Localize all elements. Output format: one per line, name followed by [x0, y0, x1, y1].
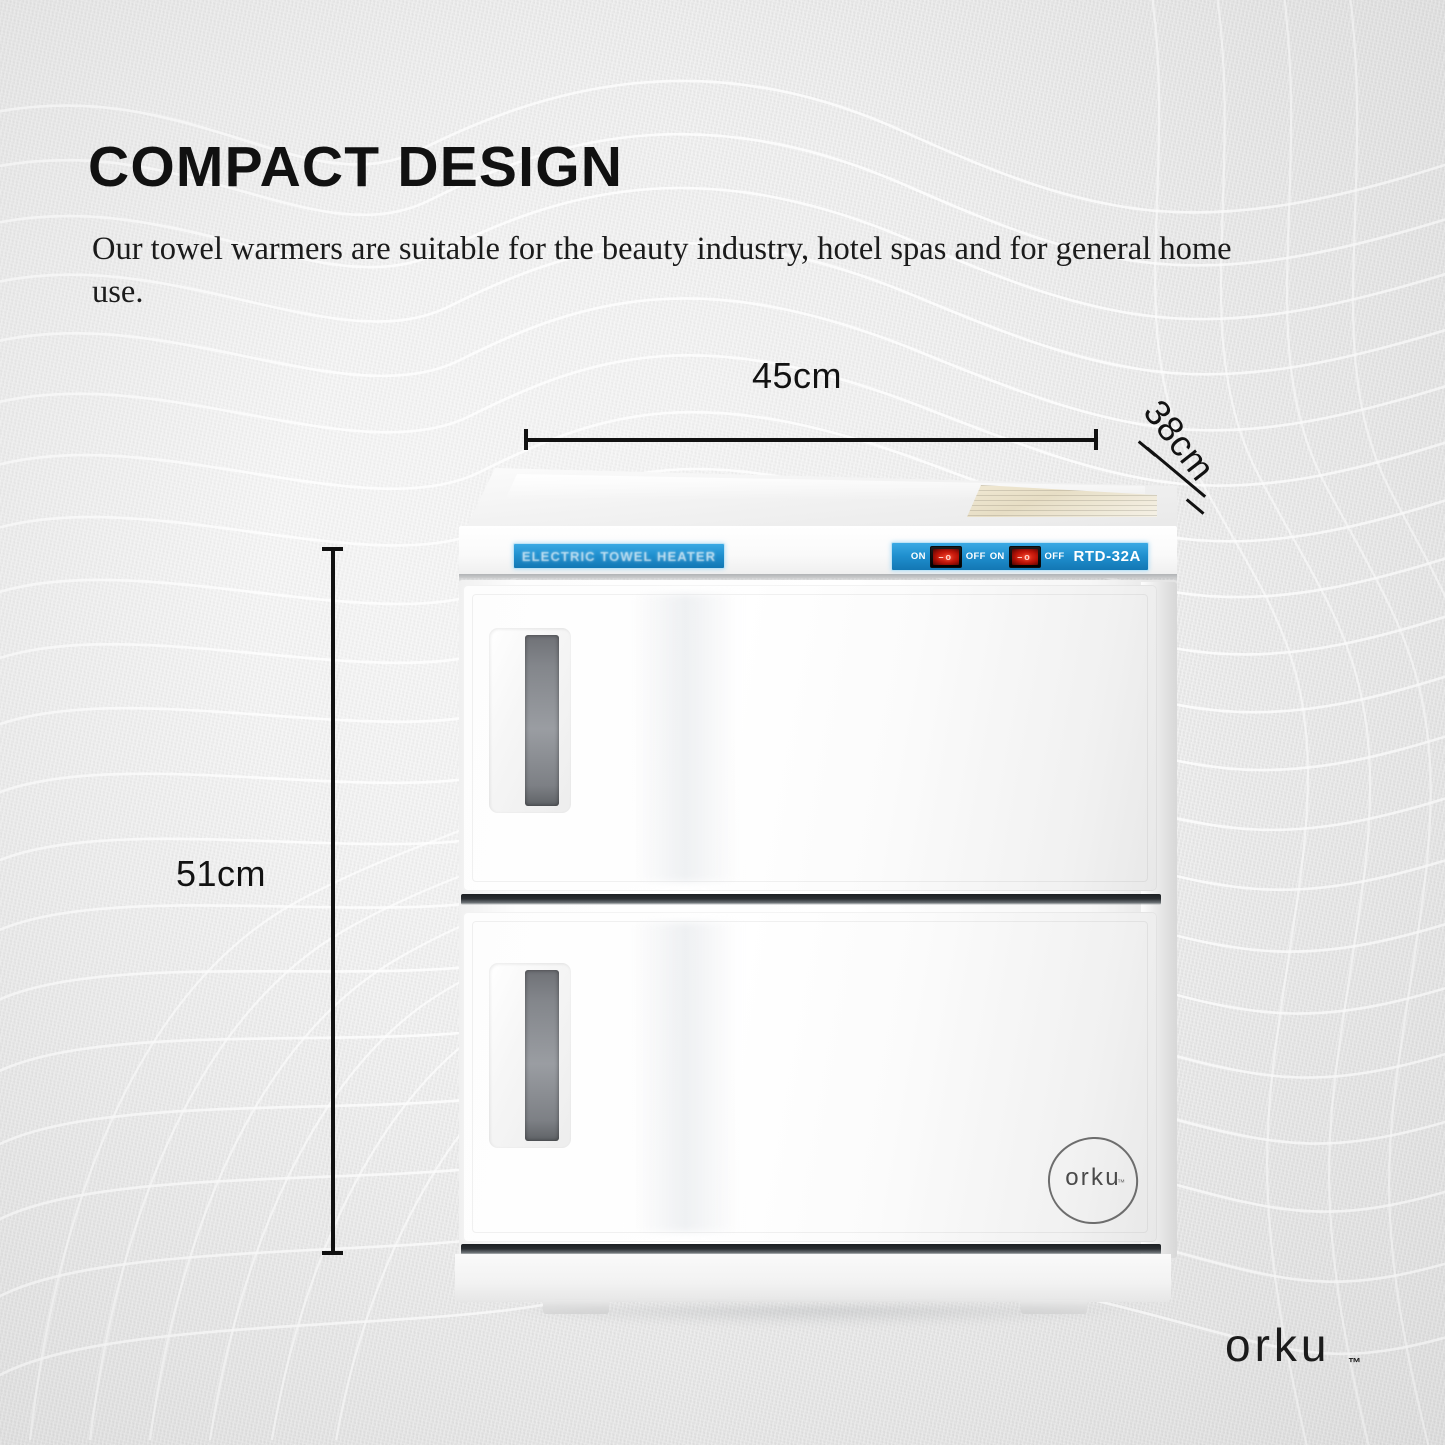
power-switch-1[interactable]: –o	[930, 546, 962, 568]
dimension-height-cap-top	[322, 547, 343, 551]
dimension-height-label: 51cm	[176, 853, 266, 895]
upper-door-handle[interactable]	[489, 628, 571, 813]
dimension-width-cap-left	[524, 429, 528, 450]
brand-label-text: ELECTRIC TOWEL HEATER	[522, 549, 716, 564]
upper-handle-slot	[525, 635, 559, 806]
cabinet-plinth	[455, 1254, 1171, 1302]
dimension-width-line	[525, 438, 1097, 442]
switch-2-on-label: ON	[990, 551, 1005, 562]
badge-wordmark: orku	[1045, 1164, 1141, 1192]
product-towel-warmer: ELECTRIC TOWEL HEATER ON –o OFF ON –o OF…	[447, 468, 1177, 1313]
lower-door-reflection	[630, 922, 741, 1232]
brand-label-plate: ELECTRIC TOWEL HEATER	[513, 543, 725, 569]
page-title: COMPACT DESIGN	[88, 139, 623, 196]
control-panel: ON –o OFF ON –o OFF RTD-32A	[891, 542, 1149, 571]
badge-tm-icon: ™	[1117, 1178, 1125, 1187]
switch-2-off-label: OFF	[1045, 551, 1065, 562]
switch-1-off-label: OFF	[966, 551, 986, 562]
upper-door-inset-border	[472, 594, 1148, 882]
dimension-height-line	[331, 548, 335, 1254]
dimension-width-cap-right	[1094, 429, 1098, 450]
footer-tm-icon: ™	[1348, 1355, 1362, 1370]
page-subtitle: Our towel warmers are suitable for the b…	[92, 228, 1252, 314]
door-divider-gap	[461, 894, 1161, 905]
power-switch-2[interactable]: –o	[1009, 546, 1041, 568]
switch-1-marks: –o	[939, 552, 954, 562]
orku-badge-logo: orku ™	[1045, 1134, 1141, 1226]
product-ground-shadow	[487, 1306, 1147, 1326]
switch-1-on-label: ON	[911, 551, 926, 562]
model-number: RTD-32A	[1073, 548, 1141, 565]
infographic-canvas: COMPACT DESIGN Our towel warmers are sui…	[0, 0, 1445, 1445]
lower-handle-slot	[525, 970, 559, 1141]
dimension-height-cap-bottom	[322, 1251, 343, 1255]
upper-door-reflection	[630, 594, 741, 882]
footer-brand-logo: orku	[1225, 1318, 1330, 1372]
switch-2-marks: –o	[1017, 552, 1032, 562]
dimension-width-label: 45cm	[752, 355, 842, 397]
lower-door-handle[interactable]	[489, 963, 571, 1148]
